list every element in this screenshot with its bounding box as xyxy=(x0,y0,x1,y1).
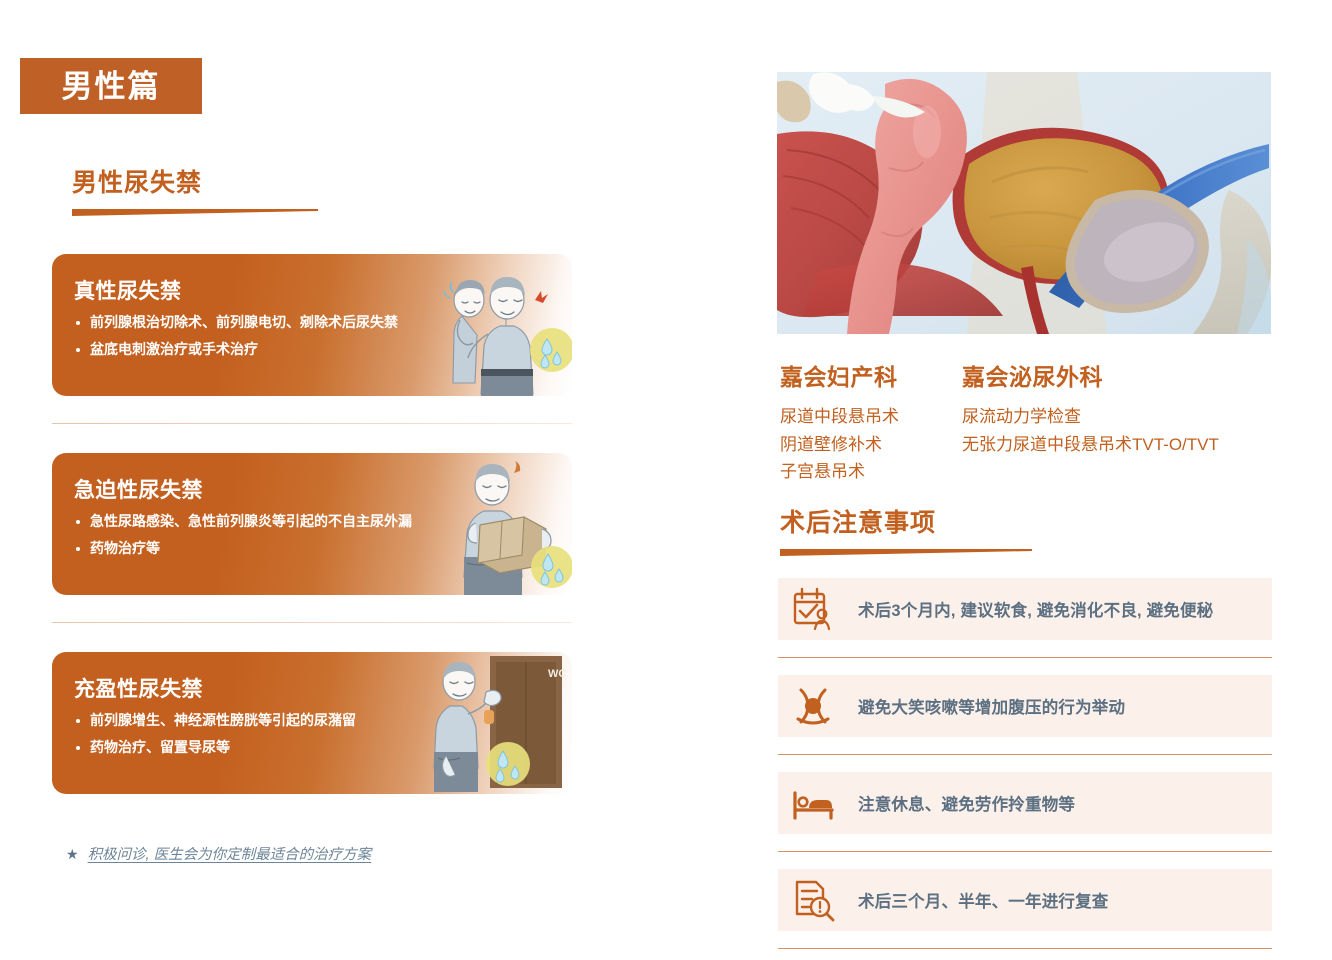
postop-notes-list: 术后3个月内, 建议软食, 避免消化不良, 避免便秘 避免大笑咳嗽等增加腹压的行… xyxy=(778,578,1272,960)
note-row-followup[interactable]: 术后三个月、半年、一年进行复查 xyxy=(778,869,1272,931)
card-bullet-list: 急性尿路感染、急性前列腺炎等引起的不自主尿外漏 药物治疗等 xyxy=(74,511,474,559)
card-bullet: 急性尿路感染、急性前列腺炎等引起的不自主尿外漏 xyxy=(74,511,474,533)
note-separator xyxy=(778,948,1272,949)
card-bullet: 前列腺增生、神经源性膀胱等引起的尿潴留 xyxy=(74,710,474,732)
card-divider xyxy=(52,622,572,623)
footnote: ★ 积极问诊, 医生会为你定制最适合的治疗方案 xyxy=(66,843,371,864)
left-section-heading: 男性尿失禁 xyxy=(72,170,318,216)
note-text: 注意休息、避免劳作拎重物等 xyxy=(858,791,1075,815)
card-body: 真性尿失禁 前列腺根治切除术、前列腺电切、剜除术后尿失禁 盆底电刺激治疗或手术治… xyxy=(74,280,474,365)
couple-coughing-illustration xyxy=(422,254,572,396)
department-gynecology: 嘉会妇产科 尿道中段悬吊术 阴道壁修补术 子宫悬吊术 xyxy=(780,358,962,486)
note-text: 术后三个月、半年、一年进行复查 xyxy=(858,888,1109,912)
page-title-banner: 男性篇 xyxy=(20,58,202,114)
note-separator xyxy=(778,657,1272,658)
card-overflow-incontinence[interactable]: 充盈性尿失禁 前列腺增生、神经源性膀胱等引起的尿潴留 药物治疗、留置导尿等 WC xyxy=(52,652,572,794)
postop-section-heading: 术后注意事项 xyxy=(780,510,1032,556)
card-title: 充盈性尿失禁 xyxy=(74,678,474,701)
wc-door-label: WC xyxy=(548,668,566,680)
card-body: 急迫性尿失禁 急性尿路感染、急性前列腺炎等引起的不自主尿外漏 药物治疗等 xyxy=(74,479,474,564)
abdomen-pressure-icon xyxy=(790,684,836,728)
man-at-wc-door-illustration: WC xyxy=(422,652,572,794)
department-title: 嘉会妇产科 xyxy=(780,358,962,392)
card-bullet: 药物治疗、留置导尿等 xyxy=(74,737,474,759)
incontinence-card-list: 真性尿失禁 前列腺根治切除术、前列腺电切、剜除术后尿失禁 盆底电刺激治疗或手术治… xyxy=(52,254,572,794)
left-column: 男性篇 男性尿失禁 真性尿失禁 前列腺根治切除术、前列腺电切、剜除术后尿失禁 盆… xyxy=(0,0,700,960)
footnote-text[interactable]: 积极问诊, 医生会为你定制最适合的治疗方案 xyxy=(88,843,372,864)
card-urge-incontinence[interactable]: 急迫性尿失禁 急性尿路感染、急性前列腺炎等引起的不自主尿外漏 药物治疗等 xyxy=(52,453,572,595)
star-icon: ★ xyxy=(66,847,79,861)
department-service-item: 无张力尿道中段悬吊术TVT-O/TVT xyxy=(962,431,1219,459)
heading-underline-left xyxy=(72,209,318,216)
card-bullet-list: 前列腺增生、神经源性膀胱等引起的尿潴留 药物治疗、留置导尿等 xyxy=(74,710,474,758)
card-title: 真性尿失禁 xyxy=(74,280,474,303)
department-title: 嘉会泌尿外科 xyxy=(962,358,1219,392)
department-services: 嘉会妇产科 尿道中段悬吊术 阴道壁修补术 子宫悬吊术 嘉会泌尿外科 尿流动力学检… xyxy=(780,358,1219,486)
card-divider xyxy=(52,423,572,424)
card-body: 充盈性尿失禁 前列腺增生、神经源性膀胱等引起的尿潴留 药物治疗、留置导尿等 xyxy=(74,678,474,763)
note-separator xyxy=(778,851,1272,852)
card-bullet: 盆底电刺激治疗或手术治疗 xyxy=(74,339,474,361)
card-bullet-list: 前列腺根治切除术、前列腺电切、剜除术后尿失禁 盆底电刺激治疗或手术治疗 xyxy=(74,312,474,360)
calendar-check-person-icon xyxy=(790,587,836,631)
document-magnifier-alert-icon xyxy=(790,878,836,922)
card-bullet: 药物治疗等 xyxy=(74,538,474,560)
card-true-incontinence[interactable]: 真性尿失禁 前列腺根治切除术、前列腺电切、剜除术后尿失禁 盆底电刺激治疗或手术治… xyxy=(52,254,572,396)
department-service-item: 尿道中段悬吊术 xyxy=(780,403,962,431)
pelvic-anatomy-image xyxy=(777,72,1271,334)
page-title: 男性篇 xyxy=(62,71,161,102)
heading-underline-right xyxy=(780,549,1032,556)
note-separator xyxy=(778,754,1272,755)
card-title: 急迫性尿失禁 xyxy=(74,479,474,502)
department-service-item: 阴道壁修补术 xyxy=(780,431,962,459)
department-urology: 嘉会泌尿外科 尿流动力学检查 无张力尿道中段悬吊术TVT-O/TVT xyxy=(962,358,1219,486)
department-service-item: 子宫悬吊术 xyxy=(780,458,962,486)
man-carrying-box-illustration xyxy=(422,453,572,595)
infographic-page: 男性篇 男性尿失禁 真性尿失禁 前列腺根治切除术、前列腺电切、剜除术后尿失禁 盆… xyxy=(0,0,1332,960)
right-column: 嘉会妇产科 尿道中段悬吊术 阴道壁修补术 子宫悬吊术 嘉会泌尿外科 尿流动力学检… xyxy=(700,0,1332,960)
bed-rest-icon xyxy=(790,781,836,825)
note-text: 避免大笑咳嗽等增加腹压的行为举动 xyxy=(858,694,1125,718)
department-service-item: 尿流动力学检查 xyxy=(962,403,1219,431)
note-text: 术后3个月内, 建议软食, 避免消化不良, 避免便秘 xyxy=(858,597,1213,621)
card-bullet: 前列腺根治切除术、前列腺电切、剜除术后尿失禁 xyxy=(74,312,474,334)
left-heading-text: 男性尿失禁 xyxy=(72,170,318,198)
postop-heading-text: 术后注意事项 xyxy=(780,510,1032,538)
note-row-abdominal-pressure[interactable]: 避免大笑咳嗽等增加腹压的行为举动 xyxy=(778,675,1272,737)
note-row-rest[interactable]: 注意休息、避免劳作拎重物等 xyxy=(778,772,1272,834)
note-row-diet[interactable]: 术后3个月内, 建议软食, 避免消化不良, 避免便秘 xyxy=(778,578,1272,640)
